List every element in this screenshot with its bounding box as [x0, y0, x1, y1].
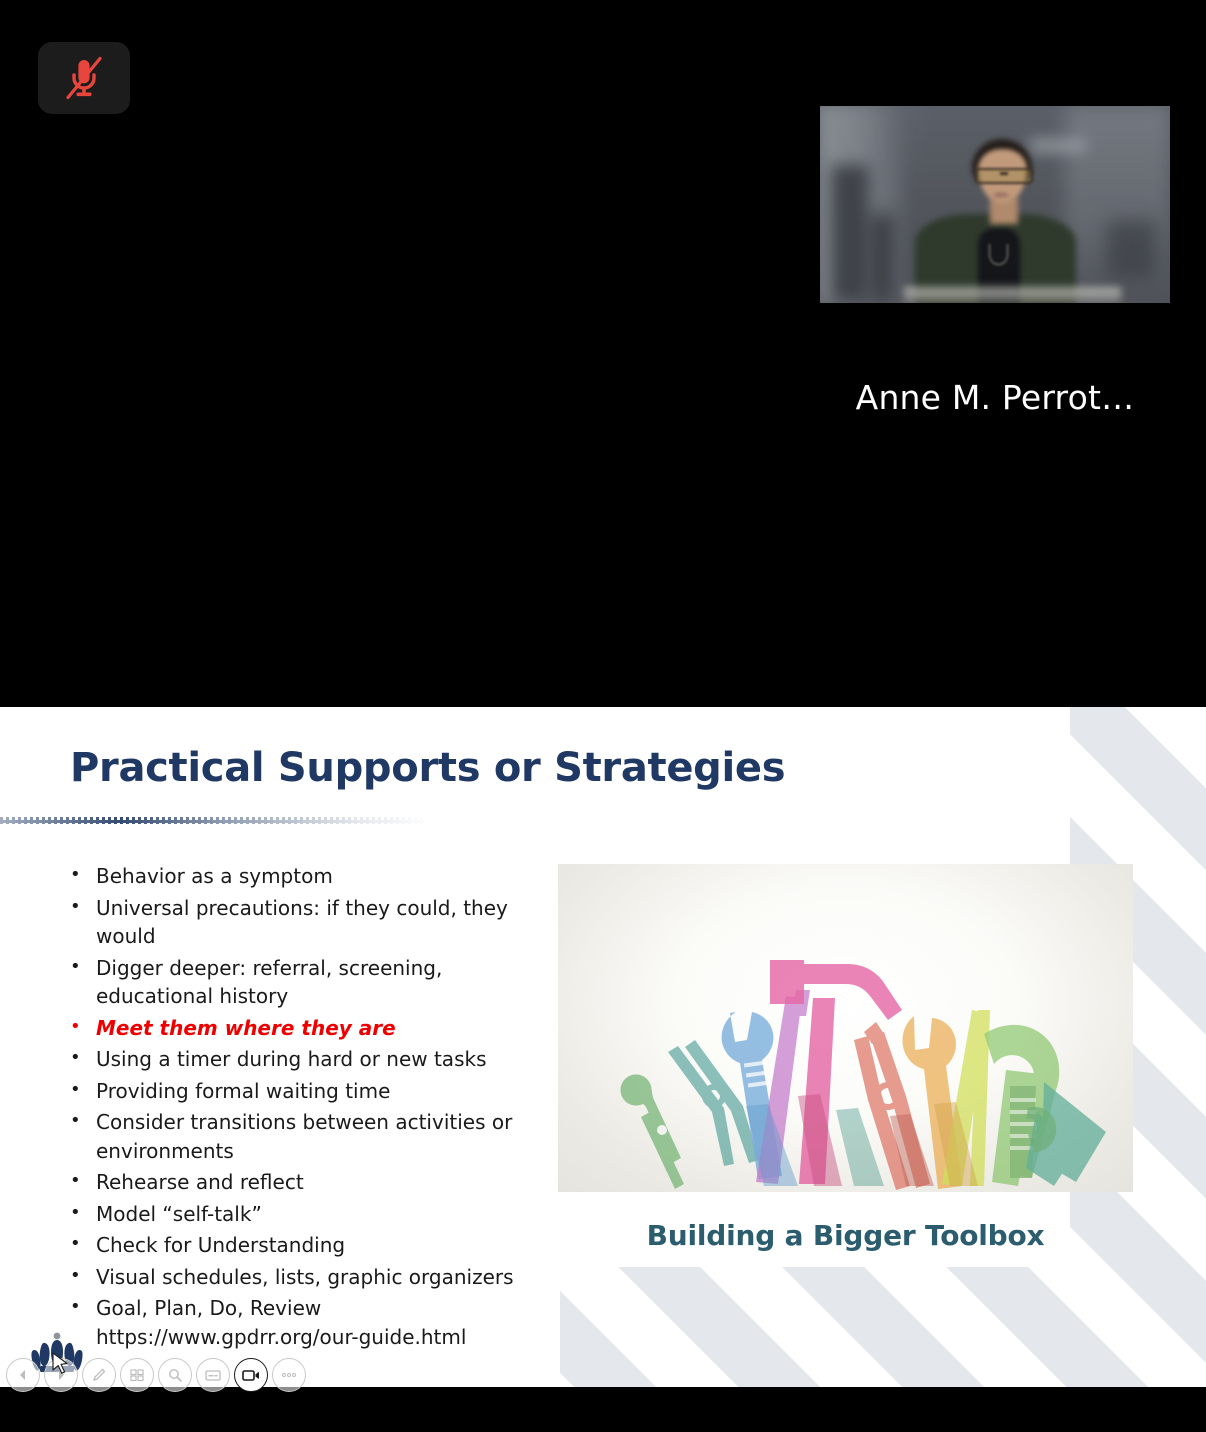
bullet-text: Using a timer during hard or new tasks — [96, 1047, 487, 1071]
all-slides-button[interactable] — [120, 1358, 154, 1392]
presenter-toolbar[interactable] — [6, 1358, 306, 1392]
magnifier-icon — [167, 1367, 183, 1383]
participant-video-tile[interactable] — [820, 106, 1170, 303]
camera-button[interactable] — [234, 1358, 268, 1392]
video-bg-highlight — [1030, 138, 1086, 154]
bullet-text: Goal, Plan, Do, Review — [96, 1296, 321, 1320]
video-bg-desk — [904, 287, 1121, 303]
more-options-button[interactable] — [272, 1358, 306, 1392]
video-bg-shadow-1 — [831, 165, 870, 303]
presentation-slide: Practical Supports or Strategies Behavio… — [0, 707, 1206, 1387]
list-item: Behavior as a symptom — [62, 862, 532, 891]
participant-glasses-bridge — [1000, 172, 1008, 175]
play-triangle-icon — [54, 1368, 68, 1382]
subtitles-icon — [204, 1367, 222, 1383]
pen-tool-button[interactable] — [82, 1358, 116, 1392]
list-item: Model “self-talk” — [62, 1200, 532, 1229]
participant-name-label: Anne M. Perrot… — [820, 378, 1170, 417]
colorful-tools-illustration — [558, 864, 1133, 1192]
bullet-text: Meet them where they are — [96, 1016, 396, 1040]
list-item: Using a timer during hard or new tasks — [62, 1045, 532, 1074]
video-bg-shadow-2 — [869, 214, 894, 303]
previous-slide-button[interactable] — [6, 1358, 40, 1392]
bullet-text: Rehearse and reflect — [96, 1170, 304, 1194]
list-item: Visual schedules, lists, graphic organiz… — [62, 1263, 532, 1292]
list-item: Goal, Plan, Do, Review https://www.gpdrr… — [62, 1294, 532, 1351]
bullet-text: Digger deeper: referral, screening, educ… — [96, 956, 442, 1009]
video-bg-shadow-3 — [1107, 220, 1156, 279]
toolbox-figure — [558, 864, 1133, 1192]
green-pliers-icon — [622, 1075, 684, 1189]
microphone-muted-icon — [64, 56, 104, 100]
list-item: Providing formal waiting time — [62, 1077, 532, 1106]
participant-necklace — [989, 244, 1008, 265]
bullet-text: Providing formal waiting time — [96, 1079, 390, 1103]
title-divider — [0, 817, 430, 824]
slide-title: Practical Supports or Strategies — [70, 745, 785, 791]
bullet-link-url[interactable]: https://www.gpdrr.org/our-guide.html — [96, 1323, 532, 1352]
list-item: Rehearse and reflect — [62, 1168, 532, 1197]
next-slide-button[interactable] — [44, 1358, 78, 1392]
participant-mouth — [993, 193, 1009, 197]
bullet-text: Universal precautions: if they could, th… — [96, 896, 508, 949]
bullet-list: Behavior as a symptom Universal precauti… — [62, 862, 532, 1354]
subtitles-button[interactable] — [196, 1358, 230, 1392]
pen-icon — [91, 1367, 107, 1383]
list-item: Check for Understanding — [62, 1231, 532, 1260]
list-item: Consider transitions between activities … — [62, 1108, 532, 1165]
ellipsis-icon — [281, 1372, 297, 1378]
bullet-text: Consider transitions between activities … — [96, 1110, 512, 1163]
mute-status-badge[interactable] — [38, 42, 130, 114]
list-item: Digger deeper: referral, screening, educ… — [62, 954, 532, 1011]
bullet-text: Behavior as a symptom — [96, 864, 333, 888]
participant-glasses — [975, 168, 1033, 184]
chevron-left-icon — [16, 1368, 30, 1382]
grid-slides-icon — [129, 1367, 145, 1383]
figure-caption: Building a Bigger Toolbox — [558, 1219, 1133, 1252]
list-item: Universal precautions: if they could, th… — [62, 894, 532, 951]
bullet-text: Model “self-talk” — [96, 1202, 262, 1226]
bullet-text: Visual schedules, lists, graphic organiz… — [96, 1265, 514, 1289]
zoom-button[interactable] — [158, 1358, 192, 1392]
bullet-text: Check for Understanding — [96, 1233, 345, 1257]
video-camera-icon — [241, 1367, 261, 1383]
list-item-highlighted: Meet them where they are — [62, 1014, 532, 1043]
presentation-screen: Anne M. Perrot… Practical Supports or St… — [0, 0, 1206, 1432]
